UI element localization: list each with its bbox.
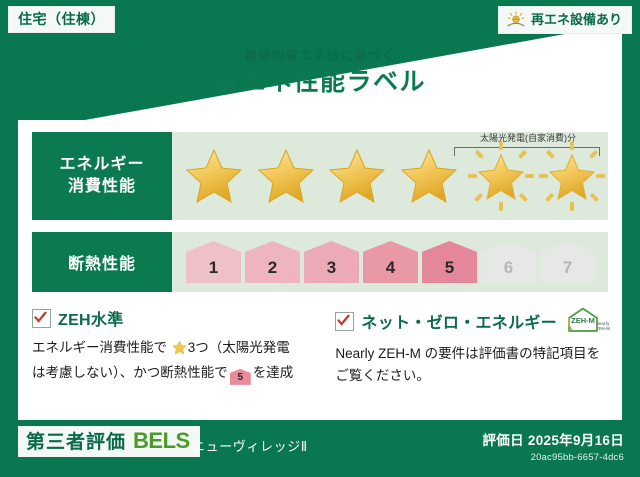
energy-performance-row: エネルギー 消費性能 太陽光発電(自家消費)分 bbox=[32, 132, 608, 220]
energy-performance-label: 住宅（住棟） 再エネ設備あり 建築物省エネ法に基づく 省エネ性能ラベル bbox=[0, 0, 640, 477]
renewable-equipment-badge: 再エネ設備あり bbox=[498, 6, 632, 34]
insulation-badge-6: 6 bbox=[481, 241, 536, 283]
evaluation-info: 評価日 2025年9月16日 20ac95bb-6657-4dc6 bbox=[482, 429, 624, 463]
evaluation-id: 20ac95bb-6657-4dc6 bbox=[482, 452, 624, 463]
energy-label-line2: 消費性能 bbox=[68, 176, 136, 198]
building-name: ニューヴィレッジⅡ bbox=[192, 436, 308, 455]
label-title-block: 建築物省エネ法に基づく 省エネ性能ラベル bbox=[0, 50, 640, 96]
bels-en-text: BELS bbox=[133, 430, 190, 452]
zeh-m-logo-subtext: Nearly ZEH-M bbox=[596, 321, 610, 331]
title-main: 省エネ性能ラベル bbox=[0, 69, 640, 97]
star-filled bbox=[178, 132, 250, 220]
energy-performance-stars-panel: 太陽光発電(自家消費)分 bbox=[172, 132, 608, 220]
check-icon bbox=[337, 314, 350, 327]
zeh-desc-part3: を達成 bbox=[253, 365, 294, 380]
net-zero-description: Nearly ZEH-M の要件は評価書の特記項目をご覧ください。 bbox=[335, 343, 608, 387]
insulation-grade-scale: 1 2 3 4 5 6 7 bbox=[172, 232, 608, 292]
insulation-performance-label-box: 断熱性能 bbox=[32, 232, 172, 292]
star-filled bbox=[321, 132, 393, 220]
zeh-m-sub-line2: ZEH-M bbox=[596, 326, 610, 331]
zeh-standard-title: ZEH水準 bbox=[58, 306, 124, 330]
star-filled bbox=[250, 132, 322, 220]
bels-jp-text: 第三者評価 bbox=[26, 433, 126, 452]
net-zero-title: ネット・ゼロ・エネルギー bbox=[361, 309, 557, 333]
check-icon bbox=[34, 311, 47, 324]
energy-label-line1: エネルギー bbox=[59, 154, 144, 176]
star-rating bbox=[172, 132, 608, 220]
insulation-badge-1: 1 bbox=[186, 241, 241, 283]
inline-star-icon bbox=[172, 340, 187, 362]
category-tag: 住宅（住棟） bbox=[8, 6, 115, 33]
zeh-standard-checkbox bbox=[32, 309, 51, 328]
insulation-badges-panel: 1 2 3 4 5 6 7 bbox=[172, 232, 608, 292]
star-filled bbox=[393, 132, 465, 220]
insulation-performance-row: 断熱性能 1 2 3 4 5 6 7 bbox=[32, 232, 608, 292]
net-zero-checkbox bbox=[335, 312, 354, 331]
insulation-badge-3: 3 bbox=[304, 241, 359, 283]
label-footer: 第三者評価 BELS ニューヴィレッジⅡ 評価日 2025年9月16日 20ac… bbox=[0, 420, 640, 477]
star-solar bbox=[536, 132, 608, 220]
insulation-badge-7: 7 bbox=[540, 241, 595, 283]
net-zero-heading-row: ネット・ゼロ・エネルギー ZEH-M Nearly ZEH-M bbox=[335, 306, 608, 336]
zeh-desc-part1: エネルギー消費性能で bbox=[32, 340, 167, 355]
zeh-m-logo: ZEH-M Nearly ZEH-M bbox=[566, 306, 608, 336]
criteria-columns: ZEH水準 エネルギー消費性能で 3つ（太陽光発電は考慮しない）、かつ断熱性能で… bbox=[32, 306, 608, 406]
zeh-standard-column: ZEH水準 エネルギー消費性能で 3つ（太陽光発電は考慮しない）、かつ断熱性能で… bbox=[32, 306, 313, 406]
solar-sun-icon bbox=[506, 11, 526, 28]
insulation-badge-2: 2 bbox=[245, 241, 300, 283]
bels-logo-box: 第三者評価 BELS bbox=[18, 426, 200, 457]
title-subtitle: 建築物省エネ法に基づく bbox=[0, 50, 640, 64]
zeh-desc-star-count: 3つ bbox=[188, 340, 209, 355]
zeh-standard-description: エネルギー消費性能で 3つ（太陽光発電は考慮しない）、かつ断熱性能で5を達成 bbox=[32, 337, 301, 385]
insulation-badge-4: 4 bbox=[363, 241, 418, 283]
insulation-label: 断熱性能 bbox=[68, 250, 136, 274]
energy-performance-label-box: エネルギー 消費性能 bbox=[32, 132, 172, 220]
evaluation-date: 評価日 2025年9月16日 bbox=[482, 429, 624, 449]
zeh-standard-heading-row: ZEH水準 bbox=[32, 306, 301, 330]
label-body: エネルギー 消費性能 太陽光発電(自家消費)分 bbox=[18, 120, 622, 420]
star-solar bbox=[465, 132, 537, 220]
renewable-badge-label: 再エネ設備あり bbox=[531, 13, 622, 26]
insulation-badge-5: 5 bbox=[422, 241, 477, 283]
inline-grade-badge: 5 bbox=[230, 369, 251, 385]
svg-text:ZEH-M: ZEH-M bbox=[571, 316, 595, 325]
net-zero-energy-column: ネット・ゼロ・エネルギー ZEH-M Nearly ZEH-M Nearl bbox=[313, 306, 608, 406]
